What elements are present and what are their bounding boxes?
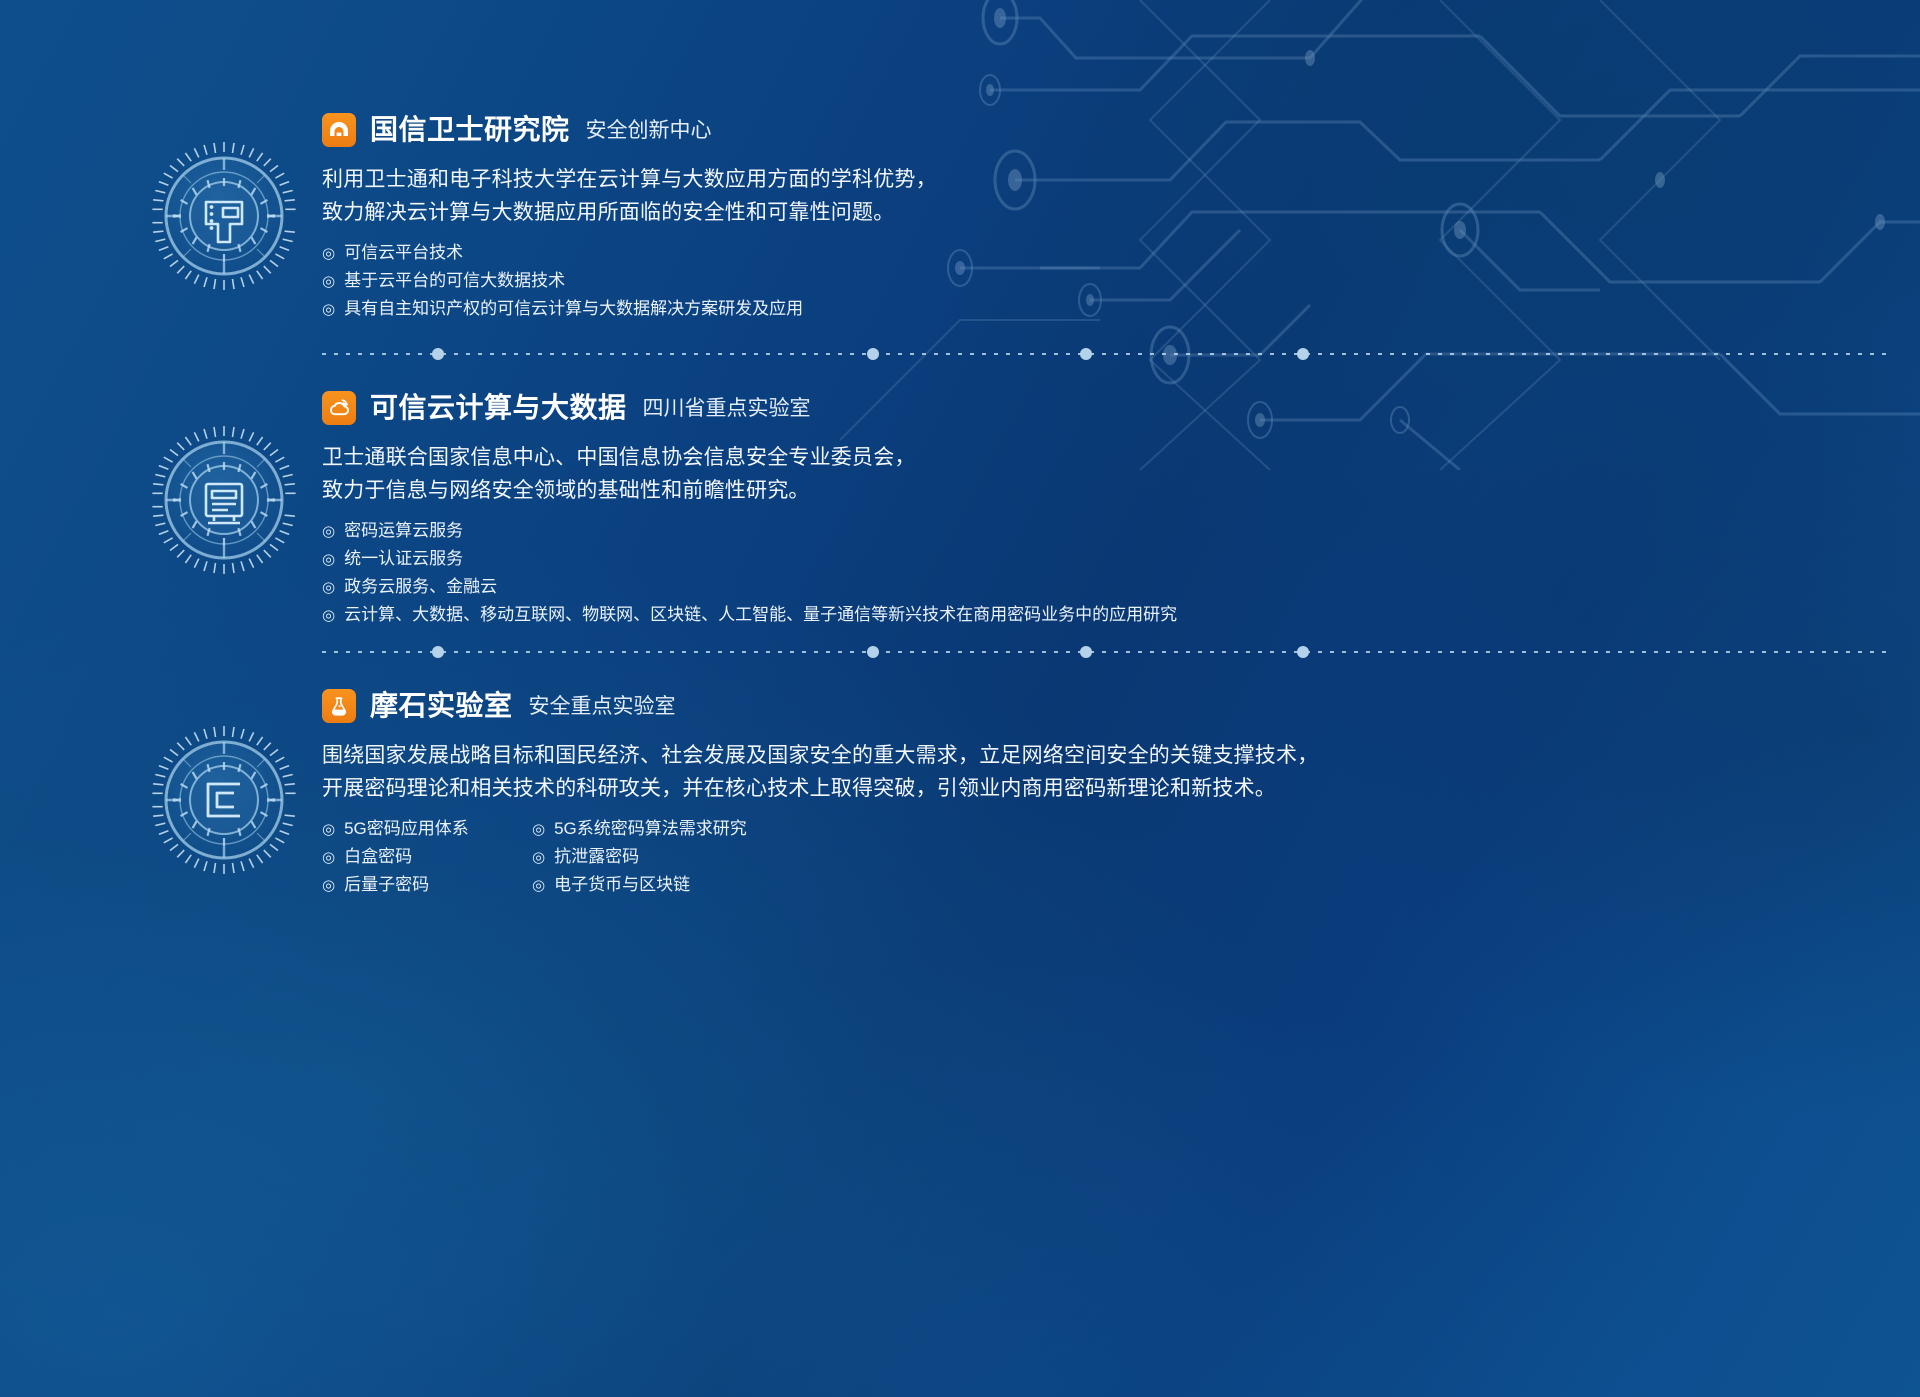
desc-line: 围绕国家发展战略目标和国民经济、社会发展及国家安全的重大需求，立足网络空间安全的… — [322, 739, 1880, 772]
list-item: ◎ 5G系统密码算法需求研究 — [532, 815, 747, 843]
bullet-marker-icon: ◎ — [322, 296, 335, 323]
list-item-label: 政务云服务、金融云 — [344, 573, 497, 600]
section-2-bullet-list: ◎ 密码运算云服务 ◎ 统一认证云服务 ◎ 政务云服务、金融云 ◎ 云计算、大数… — [322, 517, 1880, 629]
section-subtitle: 安全重点实验室 — [529, 696, 676, 717]
section-subtitle: 四川省重点实验室 — [643, 398, 811, 419]
section-1-header: 国信卫士研究院 安全创新中心 — [322, 110, 1880, 150]
list-item-label: 可信云平台技术 — [344, 239, 463, 266]
list-item-label: 5G密码应用体系 — [344, 815, 469, 842]
bullet-marker-icon: ◎ — [532, 872, 545, 899]
divider-node — [867, 646, 879, 658]
list-item: ◎ 密码运算云服务 — [322, 517, 1880, 545]
section-title: 可信云计算与大数据 — [370, 394, 627, 422]
list-item: ◎ 白盒密码 — [322, 843, 532, 871]
list-item: ◎ 统一认证云服务 — [322, 545, 1880, 573]
list-item: ◎ 政务云服务、金融云 — [322, 573, 1880, 601]
section-3-description: 围绕国家发展战略目标和国民经济、社会发展及国家安全的重大需求，立足网络空间安全的… — [322, 739, 1880, 805]
divider-node — [1297, 646, 1309, 658]
divider-1 — [322, 348, 1888, 360]
section-2-header: 可信云计算与大数据 四川省重点实验室 — [322, 388, 1880, 428]
desc-line: 卫士通联合国家信息中心、中国信息协会信息安全专业委员会， — [322, 441, 1880, 474]
bullet-marker-icon: ◎ — [322, 240, 335, 267]
flask-lab-icon — [322, 689, 356, 723]
list-item-label: 电子货币与区块链 — [554, 871, 690, 898]
section-1-description: 利用卫士通和电子科技大学在云计算与大数应用方面的学科优势， 致力解决云计算与大数… — [322, 163, 1880, 229]
desc-line: 开展密码理论和相关技术的科研攻关，并在核心技术上取得突破，引领业内商用密码新理论… — [322, 772, 1880, 805]
section-3-body: 摩石实验室 安全重点实验室 围绕国家发展战略目标和国民经济、社会发展及国家安全的… — [322, 686, 1880, 899]
list-item: ◎ 电子货币与区块链 — [532, 871, 747, 899]
list-item: ◎ 后量子密码 — [322, 871, 532, 899]
section-title: 国信卫士研究院 — [370, 116, 570, 144]
divider-node — [1080, 348, 1092, 360]
divider-node — [867, 348, 879, 360]
list-item: ◎ 5G密码应用体系 — [322, 815, 532, 843]
divider-2 — [322, 646, 1888, 658]
shield-chip-badge-icon — [148, 724, 300, 876]
section-subtitle: 安全创新中心 — [586, 120, 712, 141]
divider-line — [322, 353, 1888, 355]
list-item-label: 具有自主知识产权的可信云计算与大数据解决方案研发及应用 — [344, 295, 803, 322]
section-1-body: 国信卫士研究院 安全创新中心 利用卫士通和电子科技大学在云计算与大数应用方面的学… — [322, 110, 1880, 323]
list-item: ◎ 抗泄露密码 — [532, 843, 747, 871]
shield-server-badge-icon — [148, 140, 300, 292]
cloud-signal-icon — [322, 391, 356, 425]
bullet-marker-icon: ◎ — [322, 872, 335, 899]
list-item: ◎ 具有自主知识产权的可信云计算与大数据解决方案研发及应用 — [322, 295, 1880, 323]
list-item-label: 后量子密码 — [344, 871, 429, 898]
list-item-label: 基于云平台的可信大数据技术 — [344, 267, 565, 294]
list-item-label: 5G系统密码算法需求研究 — [554, 815, 747, 842]
list-item: ◎ 可信云平台技术 — [322, 239, 1880, 267]
shield-database-badge-icon — [148, 424, 300, 576]
divider-node — [1080, 646, 1092, 658]
bullet-marker-icon: ◎ — [322, 844, 335, 871]
divider-line — [322, 651, 1888, 653]
section-3-bullet-list: ◎ 5G密码应用体系 ◎ 5G系统密码算法需求研究 ◎ 白盒密码 ◎ 抗泄露密码… — [322, 815, 747, 899]
list-item-label: 密码运算云服务 — [344, 517, 463, 544]
content-root: 国信卫士研究院 安全创新中心 利用卫士通和电子科技大学在云计算与大数应用方面的学… — [0, 0, 1920, 1397]
bullet-marker-icon: ◎ — [532, 816, 545, 843]
list-item: ◎ 基于云平台的可信大数据技术 — [322, 267, 1880, 295]
divider-node — [432, 348, 444, 360]
bullet-marker-icon: ◎ — [322, 546, 335, 573]
section-1-bullet-list: ◎ 可信云平台技术 ◎ 基于云平台的可信大数据技术 ◎ 具有自主知识产权的可信云… — [322, 239, 1880, 323]
divider-node — [1297, 348, 1309, 360]
divider-node — [432, 646, 444, 658]
list-item-label: 抗泄露密码 — [554, 843, 639, 870]
bullet-marker-icon: ◎ — [322, 602, 335, 629]
bullet-marker-icon: ◎ — [322, 518, 335, 545]
section-2-body: 可信云计算与大数据 四川省重点实验室 卫士通联合国家信息中心、中国信息协会信息安… — [322, 388, 1880, 629]
bullet-marker-icon: ◎ — [322, 268, 335, 295]
bullet-marker-icon: ◎ — [322, 816, 335, 843]
bullet-marker-icon: ◎ — [322, 574, 335, 601]
bullet-marker-icon: ◎ — [532, 844, 545, 871]
section-title: 摩石实验室 — [370, 692, 513, 720]
desc-line: 利用卫士通和电子科技大学在云计算与大数应用方面的学科优势， — [322, 163, 1880, 196]
section-3-header: 摩石实验室 安全重点实验室 — [322, 686, 1880, 726]
list-item-label: 云计算、大数据、移动互联网、物联网、区块链、人工智能、量子通信等新兴技术在商用密… — [344, 601, 1177, 628]
list-item: ◎ 云计算、大数据、移动互联网、物联网、区块链、人工智能、量子通信等新兴技术在商… — [322, 601, 1880, 629]
desc-line: 致力于信息与网络安全领域的基础性和前瞻性研究。 — [322, 474, 1880, 507]
section-2-description: 卫士通联合国家信息中心、中国信息协会信息安全专业委员会， 致力于信息与网络安全领… — [322, 441, 1880, 507]
desc-line: 致力解决云计算与大数据应用所面临的安全性和可靠性问题。 — [322, 196, 1880, 229]
list-item-label: 白盒密码 — [344, 843, 412, 870]
list-item-label: 统一认证云服务 — [344, 545, 463, 572]
bridge-arch-icon — [322, 113, 356, 147]
